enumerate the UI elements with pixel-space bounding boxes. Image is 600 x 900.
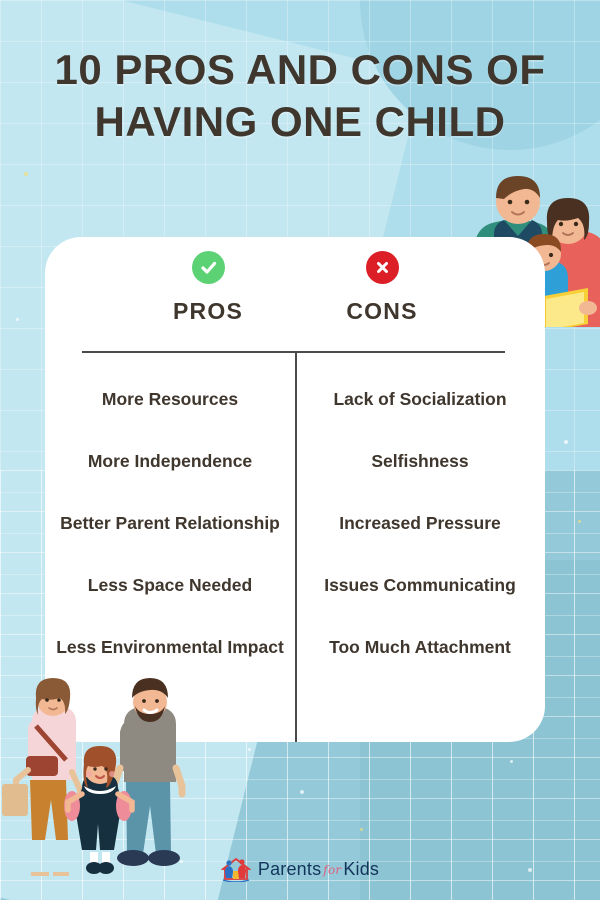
confetti-speck	[360, 828, 363, 831]
brand-second-word: Kids	[343, 859, 379, 880]
confetti-speck	[564, 440, 568, 444]
list-item: Lack of Socialization	[295, 368, 545, 430]
cons-list: Lack of Socialization Selfishness Increa…	[295, 356, 545, 678]
brand-first-word: Parents	[258, 859, 321, 880]
cons-column-header: CONS	[257, 251, 507, 325]
list-item: Selfishness	[295, 430, 545, 492]
house-family-logo-icon	[221, 856, 251, 882]
list-item: Less Space Needed	[45, 554, 295, 616]
list-item: Less Environmental Impact	[45, 616, 295, 678]
page-title: 10 PROS AND CONS OF HAVING ONE CHILD	[30, 44, 570, 148]
confetti-speck	[578, 520, 581, 523]
family-walking-illustration	[0, 676, 206, 876]
list-item: Better Parent Relationship	[45, 492, 295, 554]
list-item: Issues Communicating	[295, 554, 545, 616]
pros-cons-card: PROS CONS More Resources More Independen…	[45, 237, 545, 742]
list-item: Too Much Attachment	[295, 616, 545, 678]
header-divider	[82, 351, 505, 353]
cons-heading-label: CONS	[257, 298, 507, 325]
pros-cons-lists: More Resources More Independence Better …	[45, 356, 545, 678]
pros-list: More Resources More Independence Better …	[45, 356, 295, 678]
confetti-speck	[300, 790, 304, 794]
column-headers: PROS CONS	[45, 237, 545, 352]
list-item: More Resources	[45, 368, 295, 430]
confetti-speck	[24, 172, 28, 176]
footer-logo[interactable]: Parents for Kids	[0, 856, 600, 882]
confetti-speck	[16, 318, 19, 321]
confetti-speck	[248, 748, 251, 751]
check-circle-icon	[192, 251, 225, 284]
list-item: More Independence	[45, 430, 295, 492]
list-item: Increased Pressure	[295, 492, 545, 554]
brand-script-word: for	[323, 863, 341, 877]
confetti-speck	[510, 760, 513, 763]
infographic-poster: 10 PROS AND CONS OF HAVING ONE CHILD	[0, 0, 600, 900]
x-circle-icon	[366, 251, 399, 284]
brand-wordmark: Parents for Kids	[258, 859, 379, 880]
